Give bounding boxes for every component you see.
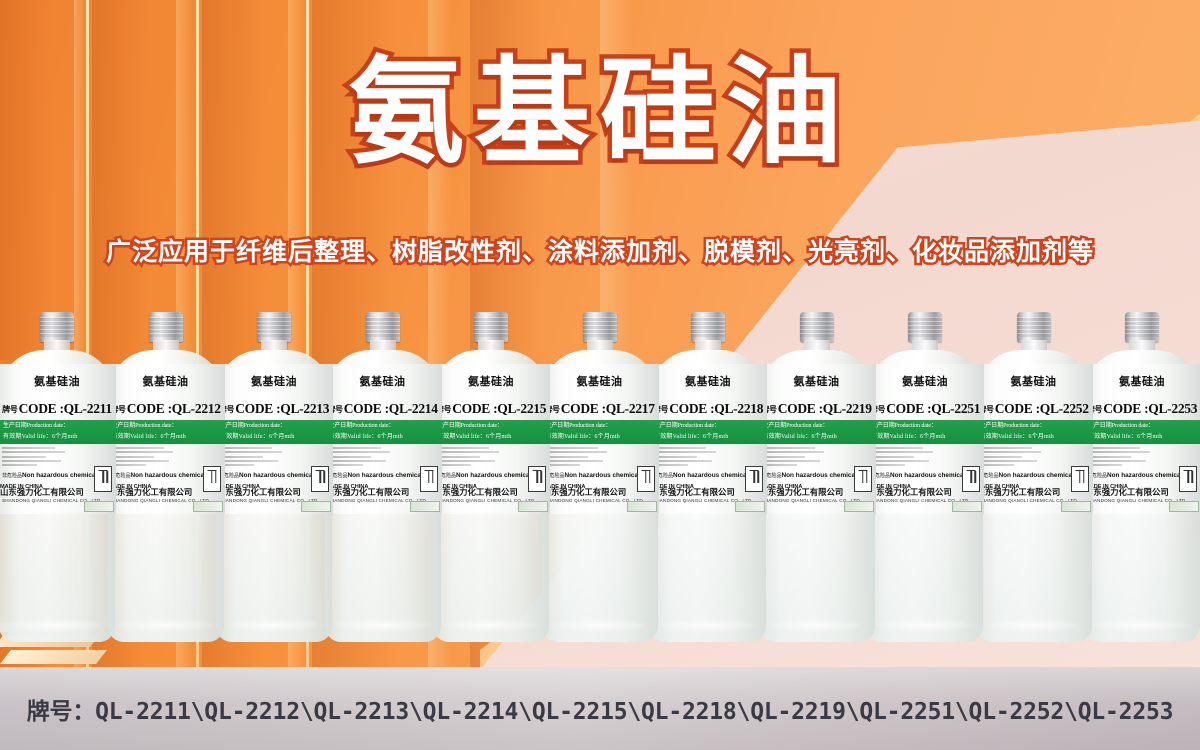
label-code-label: CODE : (561, 401, 606, 417)
label-code-value: QL-2214 (389, 401, 438, 417)
label-green-band: 生产日期Production date：有效期Valid life：6个月mth (866, 420, 984, 444)
poster-subtitle: 广泛应用于纤维后整理、树脂改性剂、涂料添加剂、脱模剂、光亮剂、化妆品添加剂等 (106, 232, 1094, 268)
label-green-band: 生产日期Production date：有效期Valid life：6个月mth (975, 420, 1093, 444)
bottle-liquid (542, 514, 658, 642)
product-bottle: 氨基硅油牌号CODE : QL-2215生产日期Production date：… (432, 312, 550, 642)
label-green-band: 生产日期Production date：有效期Valid life：6个月mth (1083, 420, 1200, 444)
bottle-cap (366, 312, 400, 342)
label-product-name: 氨基硅油 (794, 373, 840, 389)
label-non-hazardous-en: Non hazardous chemicals (999, 472, 1078, 479)
label-code-value: QL-2212 (172, 401, 221, 417)
bottle-liquid (1084, 514, 1200, 642)
label-code-label: CODE : (235, 401, 280, 417)
label-valid-life: 有效期Valid life：6个月mth (3, 432, 113, 443)
fragile-icon (962, 466, 980, 492)
label-production-date: 生产日期Production date： (871, 421, 981, 432)
fragile-icon (203, 466, 221, 492)
label-non-hazardous-cn: 非危险品 (2, 473, 22, 479)
label-code-label: CODE : (886, 401, 931, 417)
label-code-value: QL-2215 (497, 401, 546, 417)
label-product-name: 氨基硅油 (143, 373, 189, 389)
label-production-date: 生产日期Production date： (329, 421, 439, 432)
label-company-cn: 山东强力化工有限公司 (217, 486, 301, 498)
label-green-band: 生产日期Production date：有效期Valid life：6个月mth (649, 420, 767, 444)
label-non-hazardous-en: Non hazardous chemicals (456, 472, 535, 479)
product-bottle: 氨基硅油牌号CODE : QL-2251生产日期Production date：… (866, 312, 984, 642)
label-code-label: CODE : (669, 401, 714, 417)
bottle-label: 氨基硅油牌号CODE : QL-2219生产日期Production date：… (758, 364, 876, 514)
label-non-hazardous-en: Non hazardous chemicals (1107, 472, 1186, 479)
product-bottle: 氨基硅油牌号CODE : QL-2219生产日期Production date：… (758, 312, 876, 642)
label-product-name: 氨基硅油 (34, 373, 80, 389)
bottle-label: 氨基硅油牌号CODE : QL-2213生产日期Production date：… (215, 364, 333, 514)
bottle-label: 氨基硅油牌号CODE : QL-2217生产日期Production date：… (541, 364, 659, 514)
bottle-label: 氨基硅油牌号CODE : QL-2215生产日期Production date：… (432, 364, 550, 514)
label-footer: 非危险品Non hazardous chemicalsMADE IN CHINA… (324, 444, 442, 514)
label-cert-stamp (952, 501, 982, 512)
fragile-icon (528, 466, 546, 492)
subtitle-area: 广泛应用于纤维后整理、树脂改性剂、涂料添加剂、脱模剂、光亮剂、化妆品添加剂等 (0, 232, 1200, 268)
product-bottle: 氨基硅油牌号CODE : QL-2217生产日期Production date：… (541, 312, 659, 642)
label-non-hazardous: 非危险品Non hazardous chemicals (545, 472, 644, 479)
label-header: 氨基硅油 (107, 364, 225, 398)
label-footer: 非危险品Non hazardous chemicalsMADE IN CHINA… (758, 444, 876, 514)
fragile-icon (1179, 466, 1197, 492)
label-company-cn: 山东强力化工有限公司 (109, 486, 193, 498)
label-code-line: 牌号CODE : QL-2214 (324, 398, 442, 420)
label-code-value: QL-2253 (1148, 401, 1197, 417)
label-code-value: QL-2252 (1040, 401, 1089, 417)
bottle-liquid (976, 514, 1092, 642)
label-company-cn: 山东强力化工有限公司 (868, 486, 952, 498)
label-valid-life: 有效期Valid life：6个月mth (437, 432, 547, 443)
bottle-label: 氨基硅油牌号CODE : QL-2218生产日期Production date：… (649, 364, 767, 514)
label-code-value: QL-2217 (606, 401, 655, 417)
label-fineprint (111, 447, 179, 466)
label-non-hazardous: 非危险品Non hazardous chemicals (979, 472, 1078, 479)
bottle-liquid (216, 514, 332, 642)
label-product-name: 氨基硅油 (360, 373, 406, 389)
fragile-icon (854, 466, 872, 492)
label-valid-life: 有效期Valid life：6个月mth (329, 432, 439, 443)
label-fineprint (328, 447, 396, 466)
label-company-cn: 山东强力化工有限公司 (543, 486, 627, 498)
bottle-label: 氨基硅油牌号CODE : QL-2214生产日期Production date：… (324, 364, 442, 514)
label-fineprint (653, 447, 721, 466)
label-non-hazardous-en: Non hazardous chemicals (565, 472, 644, 479)
label-green-band: 生产日期Production date：有效期Valid life：6个月mth (107, 420, 225, 444)
label-footer: 非危险品Non hazardous chemicalsMADE IN CHINA… (432, 444, 550, 514)
bottle-label: 氨基硅油牌号CODE : QL-2251生产日期Production date：… (866, 364, 984, 514)
label-header: 氨基硅油 (324, 364, 442, 398)
fragile-icon (311, 466, 329, 492)
label-production-date: 生产日期Production date： (763, 421, 873, 432)
label-footer: 非危险品Non hazardous chemicalsMADE IN CHINA… (0, 444, 116, 514)
bottle-label: 氨基硅油牌号CODE : QL-2253生产日期Production date：… (1083, 364, 1200, 514)
label-non-hazardous: 非危险品Non hazardous chemicals (653, 472, 752, 479)
label-non-hazardous: 非危险品Non hazardous chemicals (111, 472, 210, 479)
label-production-date: 生产日期Production date： (546, 421, 656, 432)
bottle-liquid (867, 514, 983, 642)
label-fineprint (762, 447, 830, 466)
label-code-line: 牌号CODE : QL-2251 (866, 398, 984, 420)
label-production-date: 生产日期Production date： (220, 421, 330, 432)
bottle-liquid (433, 514, 549, 642)
label-header: 氨基硅油 (758, 364, 876, 398)
label-valid-life: 有效期Valid life：6个月mth (763, 432, 873, 443)
label-cert-stamp (410, 501, 440, 512)
bottle-cap (40, 312, 74, 342)
label-cert-stamp (1169, 501, 1199, 512)
label-valid-life: 有效期Valid life：6个月mth (654, 432, 764, 443)
label-cert-stamp (518, 501, 548, 512)
label-company-cn: 山东强力化工有限公司 (1085, 486, 1169, 498)
label-cert-stamp (627, 501, 657, 512)
product-bottle: 氨基硅油牌号CODE : QL-2211生产日期Production date：… (0, 312, 116, 642)
label-non-hazardous-en: Non hazardous chemicals (673, 472, 752, 479)
product-bottle: 氨基硅油牌号CODE : QL-2218生产日期Production date：… (649, 312, 767, 642)
label-header: 氨基硅油 (541, 364, 659, 398)
fragile-icon (420, 466, 438, 492)
label-product-name: 氨基硅油 (1011, 373, 1057, 389)
label-footer: 非危险品Non hazardous chemicalsMADE IN CHINA… (215, 444, 333, 514)
label-fineprint (979, 447, 1047, 466)
label-production-date: 生产日期Production date： (112, 421, 222, 432)
label-valid-life: 有效期Valid life：6个月mth (220, 432, 330, 443)
bottle-cap (583, 312, 617, 342)
label-production-date: 生产日期Production date： (3, 421, 113, 432)
label-non-hazardous: 非危险品Non hazardous chemicals (328, 472, 427, 479)
label-product-name: 氨基硅油 (902, 373, 948, 389)
fragile-icon (637, 466, 655, 492)
label-header: 氨基硅油 (866, 364, 984, 398)
product-bottle: 氨基硅油牌号CODE : QL-2214生产日期Production date：… (324, 312, 442, 642)
bottle-liquid (650, 514, 766, 642)
label-code-label: CODE : (19, 401, 64, 417)
label-valid-life: 有效期Valid life：6个月mth (1088, 432, 1198, 443)
bottle-cap (908, 312, 942, 342)
label-code-line: 牌号CODE : QL-2253 (1083, 398, 1200, 420)
label-header: 氨基硅油 (1083, 364, 1200, 398)
bottle-label: 氨基硅油牌号CODE : QL-2212生产日期Production date：… (107, 364, 225, 514)
label-footer: 非危险品Non hazardous chemicalsMADE IN CHINA… (649, 444, 767, 514)
label-code-value: QL-2251 (931, 401, 980, 417)
fragile-icon (94, 466, 112, 492)
label-non-hazardous: 非危险品Non hazardous chemicals (2, 472, 101, 479)
label-cert-stamp (735, 501, 765, 512)
label-non-hazardous-en: Non hazardous chemicals (239, 472, 318, 479)
label-header: 氨基硅油 (649, 364, 767, 398)
bottle-liquid (108, 514, 224, 642)
label-code-line: 牌号CODE : QL-2219 (758, 398, 876, 420)
label-company-cn: 山东强力化工有限公司 (651, 486, 735, 498)
label-header: 氨基硅油 (432, 364, 550, 398)
bottle-label: 氨基硅油牌号CODE : QL-2252生产日期Production date：… (975, 364, 1093, 514)
label-footer: 非危险品Non hazardous chemicalsMADE IN CHINA… (866, 444, 984, 514)
product-bottle: 氨基硅油牌号CODE : QL-2212生产日期Production date：… (107, 312, 225, 642)
label-code-label: CODE : (344, 401, 389, 417)
label-fineprint (1087, 447, 1155, 466)
label-code-value: QL-2211 (64, 401, 112, 417)
bottle-row: 氨基硅油牌号CODE : QL-2211生产日期Production date：… (0, 312, 1200, 642)
label-non-hazardous-en: Non hazardous chemicals (782, 472, 861, 479)
label-header: 氨基硅油 (0, 364, 116, 398)
fragile-icon (1071, 466, 1089, 492)
label-cert-stamp (301, 501, 331, 512)
label-fineprint (545, 447, 613, 466)
background-sliver (0, 650, 107, 664)
label-footer: 非危险品Non hazardous chemicalsMADE IN CHINA… (975, 444, 1093, 514)
label-fineprint (870, 447, 938, 466)
label-valid-life: 有效期Valid life：6个月mth (980, 432, 1090, 443)
label-header: 氨基硅油 (975, 364, 1093, 398)
label-valid-life: 有效期Valid life：6个月mth (546, 432, 656, 443)
label-non-hazardous-en: Non hazardous chemicals (890, 472, 969, 479)
label-code-prefix: 牌号 (2, 404, 17, 415)
fragile-icon (745, 466, 763, 492)
bottle-cap (474, 312, 508, 342)
label-valid-life: 有效期Valid life：6个月mth (112, 432, 222, 443)
label-non-hazardous: 非危险品Non hazardous chemicals (436, 472, 535, 479)
label-code-line: 牌号CODE : QL-2212 (107, 398, 225, 420)
label-code-line: 牌号CODE : QL-2252 (975, 398, 1093, 420)
label-header: 氨基硅油 (215, 364, 333, 398)
label-non-hazardous: 非危险品Non hazardous chemicals (762, 472, 861, 479)
label-production-date: 生产日期Production date： (437, 421, 547, 432)
label-code-line: 牌号CODE : QL-2213 (215, 398, 333, 420)
label-fineprint (436, 447, 504, 466)
bottle-cap (149, 312, 183, 342)
label-green-band: 生产日期Production date：有效期Valid life：6个月mth (758, 420, 876, 444)
poster-canvas: 氨基硅油 广泛应用于纤维后整理、树脂改性剂、涂料添加剂、脱模剂、光亮剂、化妆品添… (0, 0, 1200, 750)
label-product-name: 氨基硅油 (577, 373, 623, 389)
label-cert-stamp (84, 501, 114, 512)
footer-bar: 牌号：QL-2211\QL-2212\QL-2213\QL-2214\QL-22… (0, 667, 1200, 750)
label-fineprint (2, 447, 70, 466)
label-green-band: 生产日期Production date：有效期Valid life：6个月mth (0, 420, 116, 444)
label-non-hazardous: 非危险品Non hazardous chemicals (1087, 472, 1186, 479)
label-footer: 非危险品Non hazardous chemicalsMADE IN CHINA… (541, 444, 659, 514)
label-code-line: 牌号CODE : QL-2211 (0, 398, 116, 420)
product-bottle: 氨基硅油牌号CODE : QL-2213生产日期Production date：… (215, 312, 333, 642)
label-green-band: 生产日期Production date：有效期Valid life：6个月mth (432, 420, 550, 444)
label-code-line: 牌号CODE : QL-2218 (649, 398, 767, 420)
footer-code-list: 牌号：QL-2211\QL-2212\QL-2213\QL-2214\QL-22… (27, 692, 1174, 726)
label-company-cn: 山东强力化工有限公司 (0, 486, 84, 498)
label-code-line: 牌号CODE : QL-2217 (541, 398, 659, 420)
label-production-date: 生产日期Production date： (1088, 421, 1198, 432)
bottle-liquid (0, 514, 115, 642)
label-valid-life: 有效期Valid life：6个月mth (871, 432, 981, 443)
label-fineprint (219, 447, 287, 466)
label-cert-stamp (844, 501, 874, 512)
label-production-date: 生产日期Production date： (980, 421, 1090, 432)
bottle-label: 氨基硅油牌号CODE : QL-2211生产日期Production date：… (0, 364, 116, 514)
label-code-value: QL-2219 (823, 401, 872, 417)
label-green-band: 生产日期Production date：有效期Valid life：6个月mth (324, 420, 442, 444)
label-code-line: 牌号CODE : QL-2215 (432, 398, 550, 420)
label-code-label: CODE : (995, 401, 1040, 417)
label-non-hazardous: 非危险品Non hazardous chemicals (219, 472, 318, 479)
label-code-value: QL-2213 (280, 401, 329, 417)
label-non-hazardous: 非危险品Non hazardous chemicals (870, 472, 969, 479)
label-code-label: CODE : (452, 401, 497, 417)
label-non-hazardous-en: Non hazardous chemicals (131, 472, 210, 479)
bottle-cap (1125, 312, 1159, 342)
label-code-label: CODE : (778, 401, 823, 417)
label-company-cn: 山东强力化工有限公司 (434, 486, 518, 498)
label-code-label: CODE : (1103, 401, 1148, 417)
label-company-cn: 山东强力化工有限公司 (760, 486, 844, 498)
product-bottle: 氨基硅油牌号CODE : QL-2253生产日期Production date：… (1083, 312, 1200, 642)
bottle-liquid (759, 514, 875, 642)
label-product-name: 氨基硅油 (468, 373, 514, 389)
label-product-name: 氨基硅油 (251, 373, 297, 389)
label-non-hazardous-en: Non hazardous chemicals (348, 472, 427, 479)
bottle-cap (800, 312, 834, 342)
label-footer: 非危险品Non hazardous chemicalsMADE IN CHINA… (107, 444, 225, 514)
label-green-band: 生产日期Production date：有效期Valid life：6个月mth (215, 420, 333, 444)
label-cert-stamp (1061, 501, 1091, 512)
bottle-cap (691, 312, 725, 342)
bottle-cap (257, 312, 291, 342)
label-product-name: 氨基硅油 (1119, 373, 1165, 389)
label-product-name: 氨基硅油 (685, 373, 731, 389)
label-code-value: QL-2218 (714, 401, 763, 417)
label-company-cn: 山东强力化工有限公司 (326, 486, 410, 498)
label-green-band: 生产日期Production date：有效期Valid life：6个月mth (541, 420, 659, 444)
label-non-hazardous-en: Non hazardous chemicals (22, 472, 101, 479)
bottle-cap (1017, 312, 1051, 342)
product-bottle: 氨基硅油牌号CODE : QL-2252生产日期Production date：… (975, 312, 1093, 642)
label-footer: 非危险品Non hazardous chemicalsMADE IN CHINA… (1083, 444, 1200, 514)
title-area: 氨基硅油 (0, 50, 1200, 175)
label-company-cn: 山东强力化工有限公司 (977, 486, 1061, 498)
bottle-liquid (325, 514, 441, 642)
label-cert-stamp (193, 501, 223, 512)
label-production-date: 生产日期Production date： (654, 421, 764, 432)
poster-title: 氨基硅油 (348, 50, 852, 175)
label-code-label: CODE : (127, 401, 172, 417)
